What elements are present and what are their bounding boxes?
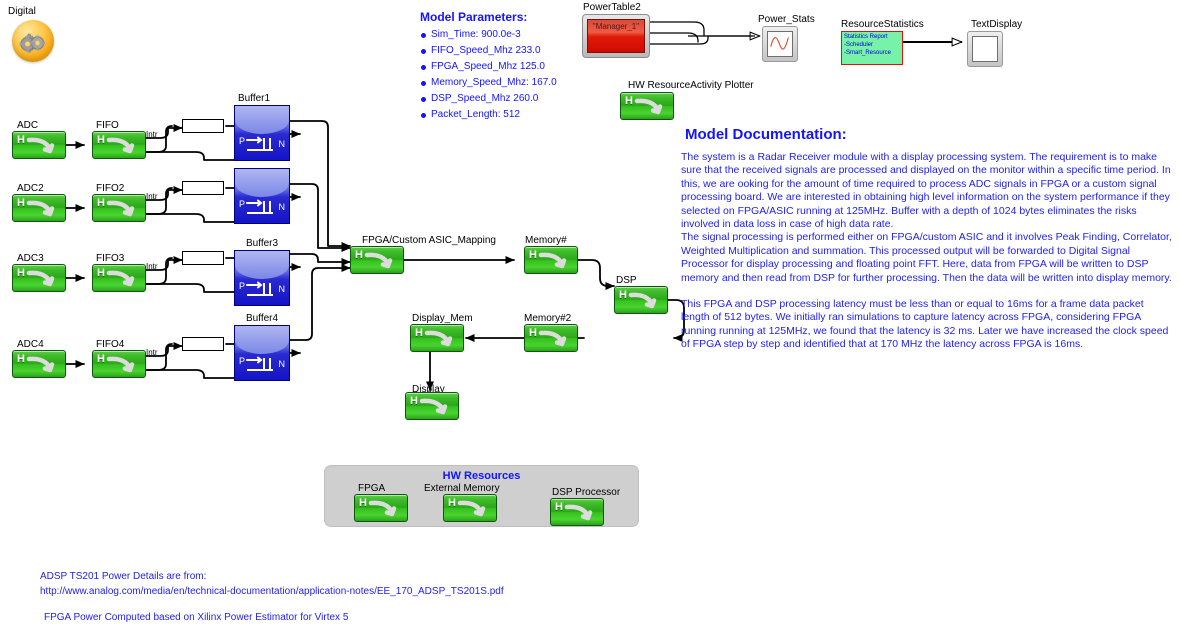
fifo-2-block[interactable]: H: [92, 194, 146, 222]
swoosh-arrow-icon: [364, 251, 398, 273]
hw-resource-memory-label: External Memory: [424, 483, 500, 494]
hw-h-glyph: H: [17, 197, 25, 209]
buffer-3-label: Buffer3: [246, 238, 278, 249]
swoosh-arrow-icon: [106, 136, 140, 158]
hw-h-glyph: H: [410, 395, 418, 407]
adc-3-block[interactable]: H: [12, 264, 66, 292]
scope-screen: [767, 31, 793, 57]
buffer-dome: [235, 169, 289, 197]
buffer-4-block[interactable]: P N: [234, 325, 290, 381]
hw-h-glyph: H: [529, 249, 537, 261]
fifo-3-block[interactable]: H: [92, 264, 146, 292]
swoosh-arrow-icon: [106, 269, 140, 291]
adc-3-label: ADC3: [17, 253, 44, 264]
relay-4-block[interactable]: [182, 337, 224, 351]
buffer-2-block[interactable]: P N: [234, 168, 290, 224]
buffer-3-block[interactable]: P N: [234, 250, 290, 306]
intr-3-label: Intr: [146, 261, 158, 272]
swoosh-arrow-icon: [106, 355, 140, 377]
fifo-2-label: FIFO2: [96, 183, 124, 194]
hw-resources-title: HW Resources: [325, 470, 638, 482]
hw-h-glyph: H: [97, 267, 105, 279]
buffer-dome: [235, 251, 289, 279]
swoosh-arrow-icon: [26, 269, 60, 291]
power-stats-label: Power_Stats: [758, 14, 815, 25]
swoosh-arrow-icon: [26, 199, 60, 221]
documentation-paragraph: The signal processing is performed eithe…: [681, 231, 1173, 285]
param-item: DSP_Speed_Mhz 260.0: [420, 93, 557, 104]
model-parameters-panel: Model Parameters: Sim_Time: 900.0e-3 FIF…: [420, 10, 557, 125]
power-stats-scope[interactable]: [762, 26, 798, 62]
adc-2-label: ADC2: [17, 183, 44, 194]
buffer-dome: [235, 106, 289, 134]
model-documentation: Model Documentation: The system is a Rad…: [681, 126, 1173, 352]
hw-resource-fpga-block[interactable]: H: [354, 494, 408, 522]
dsp-block[interactable]: H: [614, 286, 668, 314]
buffer-1-label: Buffer1: [238, 93, 270, 104]
memory1-label: Memory#: [525, 235, 567, 246]
footnote-adsp-url[interactable]: http://www.analog.com/media/en/technical…: [40, 585, 504, 599]
hw-h-glyph: H: [625, 95, 633, 107]
digital-label: Digital: [8, 6, 36, 17]
hw-h-glyph: H: [555, 501, 563, 513]
swoosh-arrow-icon: [634, 97, 668, 119]
fpga-mapping-block[interactable]: H: [350, 246, 404, 274]
swoosh-arrow-icon: [106, 199, 140, 221]
waveform-icon: [768, 32, 792, 56]
power-table-label: PowerTable2: [583, 2, 641, 13]
hw-h-glyph: H: [17, 134, 25, 146]
swoosh-arrow-icon: [419, 397, 453, 419]
swoosh-arrow-icon: [628, 291, 662, 313]
hw-resources-panel: HW Resources FPGA H External Memory H DS…: [324, 465, 639, 527]
param-item: Packet_Length: 512: [420, 109, 557, 120]
param-item: FPGA_Speed_Mhz 125.0: [420, 61, 557, 72]
swoosh-arrow-icon: [538, 329, 572, 351]
stat-line: -Smart_Resource: [844, 49, 900, 57]
param-item: Memory_Speed_Mhz: 167.0: [420, 77, 557, 88]
swoosh-arrow-icon: [26, 355, 60, 377]
hw-h-glyph: H: [355, 249, 363, 261]
param-item: FIFO_Speed_Mhz 233.0: [420, 45, 557, 56]
intr-2-label: Intr: [146, 191, 158, 202]
memory2-block[interactable]: H: [524, 324, 578, 352]
hw-resource-memory-block[interactable]: H: [443, 494, 497, 522]
fifo-1-label: FIFO: [96, 120, 119, 131]
hw-resource-dsp-label: DSP Processor: [552, 487, 620, 498]
paragraph-spacer: [681, 285, 1173, 298]
swoosh-arrow-icon: [538, 251, 572, 273]
swoosh-arrow-icon: [424, 329, 458, 351]
fifo-4-label: FIFO4: [96, 339, 124, 350]
buffer-1-block[interactable]: P N: [234, 105, 290, 161]
swoosh-arrow-icon: [368, 499, 402, 521]
queue-icon: [240, 281, 282, 301]
power-table-block[interactable]: "Manager_1": [582, 14, 650, 58]
model-canvas: Digital ADC H FIFO H Intr Buffer1: [0, 0, 1179, 640]
text-display-block[interactable]: [967, 31, 1003, 67]
hw-h-glyph: H: [619, 289, 627, 301]
footnote-adsp-title: ADSP TS201 Power Details are from:: [40, 570, 206, 584]
text-display-label: TextDisplay: [971, 19, 1022, 30]
resource-statistics-label: ResourceStatistics: [841, 19, 924, 30]
stat-line: -Scheduler: [844, 41, 900, 49]
documentation-paragraph: The system is a Radar Receiver module wi…: [681, 151, 1173, 231]
fifo-4-block[interactable]: H: [92, 350, 146, 378]
intr-1-label: Intr: [146, 129, 158, 140]
footnote-fpga-power: FPGA Power Computed based on Xilinx Powe…: [44, 611, 348, 625]
stat-line: Statistics Report: [844, 33, 900, 41]
hw-h-glyph: H: [17, 267, 25, 279]
adc-1-block[interactable]: H: [12, 131, 66, 159]
relay-3-block[interactable]: [182, 251, 224, 265]
fifo-1-block[interactable]: H: [92, 131, 146, 159]
power-table-screen: "Manager_1": [587, 19, 645, 53]
queue-icon: [240, 136, 282, 156]
hw-h-glyph: H: [529, 327, 537, 339]
gears-glyph: [12, 20, 54, 62]
hw-h-glyph: H: [97, 134, 105, 146]
text-display-screen: [972, 36, 998, 62]
hw-h-glyph: H: [359, 497, 367, 509]
adc-2-block[interactable]: H: [12, 194, 66, 222]
buffer-4-label: Buffer4: [246, 313, 278, 324]
memory1-block[interactable]: H: [524, 246, 578, 274]
model-parameters-list: Sim_Time: 900.0e-3 FIFO_Speed_Mhz 233.0 …: [420, 29, 557, 120]
model-parameters-title: Model Parameters:: [420, 10, 557, 24]
swoosh-arrow-icon: [564, 503, 598, 525]
relay-2-block[interactable]: [182, 181, 224, 195]
adc-4-block[interactable]: H: [12, 350, 66, 378]
hw-h-glyph: H: [17, 353, 25, 365]
fpga-mapping-label: FPGA/Custom ASIC_Mapping: [362, 235, 496, 246]
documentation-paragraph: This FPGA and DSP processing latency mus…: [681, 298, 1173, 352]
queue-icon: [240, 199, 282, 219]
fifo-3-label: FIFO3: [96, 253, 124, 264]
queue-icon: [240, 356, 282, 376]
power-table-manager-text: "Manager_1": [588, 22, 644, 31]
display-block[interactable]: H: [405, 392, 459, 420]
swoosh-arrow-icon: [26, 136, 60, 158]
display-mem-label: Display_Mem: [412, 313, 473, 324]
hw-h-glyph: H: [448, 497, 456, 509]
param-item: Sim_Time: 900.0e-3: [420, 29, 557, 40]
gears-icon[interactable]: [12, 20, 54, 62]
hw-plotter-label: HW ResourceActivity Plotter: [628, 80, 754, 91]
documentation-title: Model Documentation:: [681, 126, 1173, 143]
hw-plotter-block[interactable]: H: [620, 92, 674, 120]
resource-statistics-block[interactable]: Statistics Report -Scheduler -Smart_Reso…: [841, 31, 903, 65]
hw-resource-fpga-label: FPGA: [358, 483, 385, 494]
memory2-label: Memory#2: [524, 313, 571, 324]
buffer-dome: [235, 326, 289, 354]
hw-h-glyph: H: [415, 327, 423, 339]
adc-1-label: ADC: [17, 120, 38, 131]
hw-h-glyph: H: [97, 353, 105, 365]
hw-h-glyph: H: [97, 197, 105, 209]
dsp-label: DSP: [616, 275, 637, 286]
relay-1-block[interactable]: [182, 119, 224, 133]
display-mem-block[interactable]: H: [410, 324, 464, 352]
swoosh-arrow-icon: [457, 499, 491, 521]
adc-4-label: ADC4: [17, 339, 44, 350]
intr-4-label: Intr: [146, 347, 158, 358]
hw-resource-dsp-block[interactable]: H: [550, 498, 604, 526]
